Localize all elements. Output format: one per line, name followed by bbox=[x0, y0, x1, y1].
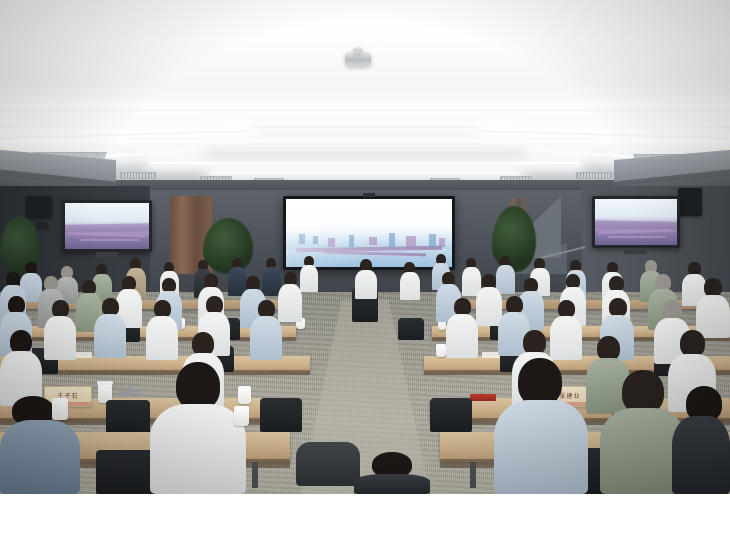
attendee bbox=[300, 256, 318, 292]
screen-building bbox=[389, 233, 395, 247]
monitor-road bbox=[68, 232, 145, 238]
screen-building bbox=[328, 238, 335, 247]
screen-building bbox=[299, 234, 305, 244]
attendee bbox=[250, 300, 282, 360]
chair bbox=[430, 398, 472, 432]
ceiling-projector-mount bbox=[353, 47, 363, 53]
attendee-torso bbox=[150, 404, 246, 494]
screen-building bbox=[406, 236, 416, 247]
attendee bbox=[400, 262, 420, 300]
attendee bbox=[44, 300, 76, 360]
tea-cup bbox=[234, 406, 249, 426]
screen-building bbox=[349, 235, 354, 247]
ceiling-groove bbox=[0, 118, 730, 120]
chair bbox=[106, 400, 150, 434]
left-monitor-stand bbox=[96, 252, 118, 258]
ceiling-projector-icon bbox=[345, 52, 371, 66]
attendee-torso bbox=[250, 316, 282, 360]
left-side-monitor-content bbox=[65, 203, 149, 249]
attendee-head bbox=[176, 362, 220, 410]
screen-building bbox=[313, 236, 318, 244]
attendee bbox=[0, 330, 42, 406]
monitor-road bbox=[598, 229, 673, 235]
attendee-torso bbox=[0, 420, 80, 494]
attendee-head bbox=[663, 300, 682, 320]
table-leg bbox=[252, 462, 258, 488]
attendee-torso bbox=[400, 272, 420, 300]
monitor-road bbox=[80, 239, 139, 241]
attendee-head bbox=[518, 358, 562, 406]
red-booklet bbox=[470, 394, 496, 401]
attendee-torso bbox=[300, 265, 318, 292]
attendee bbox=[0, 396, 80, 494]
attendee bbox=[446, 298, 478, 358]
wall-speaker-icon bbox=[678, 188, 702, 216]
right-monitor-stand bbox=[624, 248, 646, 254]
ceiling-light-strip bbox=[0, 122, 730, 128]
table-leg bbox=[470, 462, 476, 488]
screen-building bbox=[429, 234, 436, 247]
attendee-torso bbox=[44, 316, 76, 360]
attendee-torso bbox=[354, 474, 430, 494]
ceiling-light-strip bbox=[0, 104, 730, 111]
screen-building bbox=[369, 237, 377, 245]
ceiling-groove bbox=[0, 136, 730, 138]
right-side-monitor-content bbox=[595, 199, 677, 245]
chair bbox=[260, 398, 302, 432]
chair bbox=[398, 318, 424, 340]
wall-speaker-small bbox=[36, 222, 48, 229]
monitor-road bbox=[608, 236, 665, 238]
ceiling-light-strip bbox=[0, 140, 730, 145]
attendee bbox=[354, 452, 430, 494]
chair bbox=[296, 442, 360, 486]
attendee-torso bbox=[94, 314, 126, 358]
attendee bbox=[672, 386, 730, 494]
screen-building bbox=[439, 238, 445, 247]
monitor-sky bbox=[595, 199, 677, 217]
screenshot-canvas: 千子石 张建业 bbox=[0, 0, 730, 548]
attendee-torso bbox=[146, 316, 178, 360]
attendee-torso bbox=[355, 270, 377, 299]
hvac-vent bbox=[576, 172, 612, 179]
tea-cup-lid bbox=[97, 381, 113, 385]
wall-speaker-icon bbox=[26, 196, 52, 218]
attendee bbox=[94, 298, 126, 358]
ceiling-light-strip bbox=[150, 162, 580, 166]
attendee bbox=[494, 358, 588, 494]
attendee-head bbox=[680, 330, 705, 357]
hvac-vent bbox=[120, 172, 156, 179]
attendee bbox=[355, 259, 377, 299]
monitor-sky bbox=[65, 203, 149, 221]
attendee-torso bbox=[446, 314, 478, 358]
attendee bbox=[146, 300, 178, 360]
screen-camera-nub bbox=[363, 193, 375, 197]
tea-cup bbox=[436, 344, 446, 357]
ceiling-light-strip bbox=[210, 172, 520, 175]
attendee bbox=[696, 278, 730, 338]
conference-room-photograph: 千子石 张建业 bbox=[0, 0, 730, 494]
attendee-torso bbox=[494, 400, 588, 494]
attendee-torso bbox=[672, 416, 730, 494]
tea-cup bbox=[52, 398, 68, 420]
attendee bbox=[150, 362, 246, 494]
